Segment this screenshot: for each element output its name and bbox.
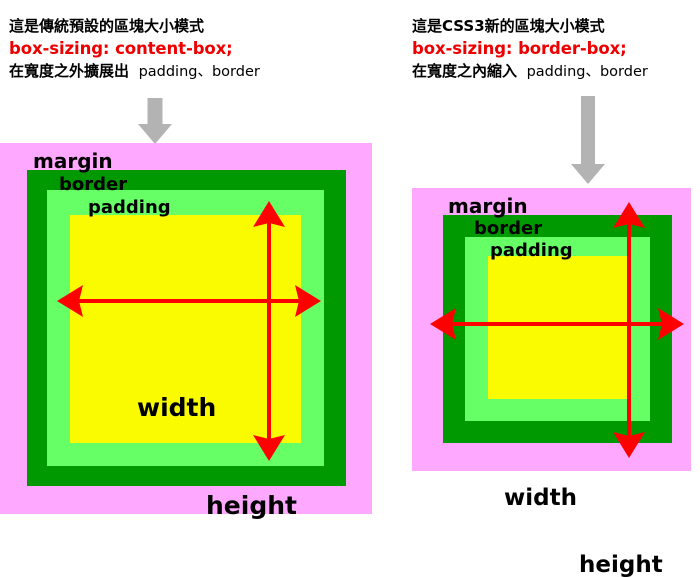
caption-border-box: 這是CSS3新的區塊大小模式 box-sizing: border-box; 在… xyxy=(412,16,648,82)
height-label: height xyxy=(206,491,297,520)
caption-right-note: 在寬度之內縮入 padding、border xyxy=(412,61,648,83)
caption-left-note-latin: padding、border xyxy=(139,64,260,80)
caption-left-heading: 這是傳統預設的區塊大小模式 xyxy=(9,16,260,37)
width-label: width xyxy=(137,393,216,422)
width-label: width xyxy=(504,485,577,511)
border-label: border xyxy=(474,218,542,239)
caption-right-note-cjk: 在寬度之內縮入 xyxy=(412,62,517,80)
arrow-down-icon-right xyxy=(570,96,606,186)
arrow-shaft xyxy=(581,96,595,166)
caption-content-box: 這是傳統預設的區塊大小模式 box-sizing: content-box; 在… xyxy=(9,16,260,82)
arrow-head xyxy=(138,124,172,144)
border-label: border xyxy=(59,174,127,195)
diagram-border-box: margin border padding width height xyxy=(412,188,691,471)
padding-label: padding xyxy=(490,240,573,261)
caption-left-note: 在寬度之外擴展出 padding、border xyxy=(9,61,260,83)
diagram-canvas: 這是傳統預設的區塊大小模式 box-sizing: content-box; 在… xyxy=(0,0,700,514)
caption-left-note-cjk: 在寬度之外擴展出 xyxy=(9,62,129,80)
caption-right-heading: 這是CSS3新的區塊大小模式 xyxy=(412,16,648,37)
margin-label: margin xyxy=(33,149,113,173)
caption-left-code: box-sizing: content-box; xyxy=(9,37,260,60)
padding-label: padding xyxy=(88,197,171,218)
height-label: height xyxy=(579,552,663,578)
caption-right-code: box-sizing: border-box; xyxy=(412,37,648,60)
height-measure-arrow xyxy=(247,201,291,461)
margin-label: margin xyxy=(448,194,528,218)
caption-right-note-latin: padding、border xyxy=(527,64,648,80)
height-measure-arrow xyxy=(607,202,651,458)
arrow-head xyxy=(571,164,605,184)
arrow-down-icon-left xyxy=(137,98,173,144)
diagram-content-box: margin border padding width height xyxy=(0,143,372,514)
arrow-shaft xyxy=(148,98,163,126)
